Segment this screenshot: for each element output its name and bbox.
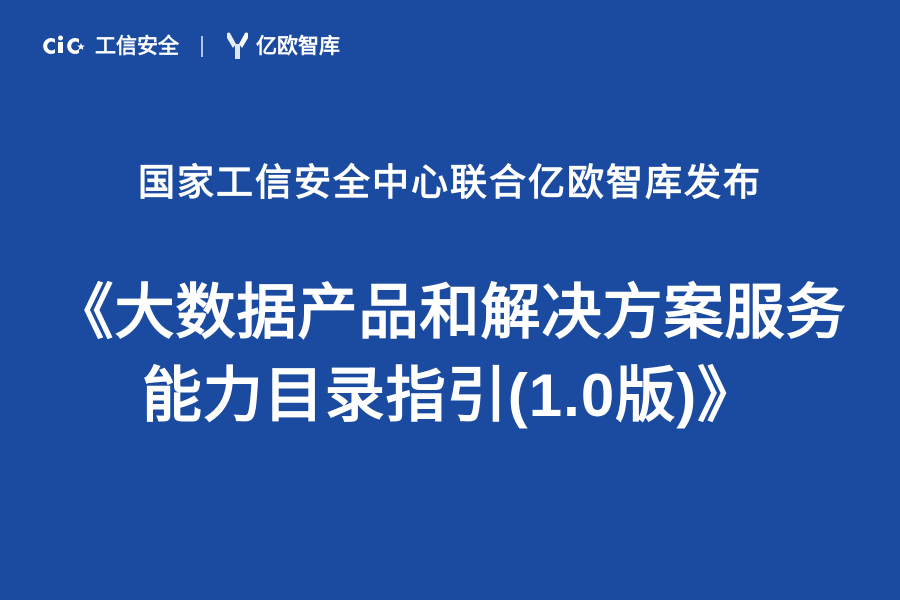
page-title: 《大数据产品和解决方案服务 能力目录指引(1.0版)》 bbox=[0, 272, 900, 438]
title-line-1: 《大数据产品和解决方案服务 bbox=[0, 272, 900, 355]
brand-cic: 工信安全 bbox=[42, 33, 179, 59]
brand-yiou-label: 亿欧智库 bbox=[256, 36, 340, 57]
poster-canvas: 工信安全 亿欧智库 国家工信安全中心联合亿欧智库发布 《大数据产品和解决方案服务 bbox=[0, 0, 900, 600]
cic-wordmark-icon bbox=[42, 33, 88, 59]
brand-cic-label: 工信安全 bbox=[95, 36, 179, 57]
brand-yiou: 亿欧智库 bbox=[225, 31, 340, 61]
title-line-2: 能力目录指引(1.0版)》 bbox=[0, 355, 900, 438]
logo-bar: 工信安全 亿欧智库 bbox=[42, 24, 340, 68]
yi-ou-tree-icon bbox=[225, 31, 250, 61]
headline: 国家工信安全中心联合亿欧智库发布 bbox=[0, 160, 900, 206]
logo-divider bbox=[201, 36, 203, 57]
